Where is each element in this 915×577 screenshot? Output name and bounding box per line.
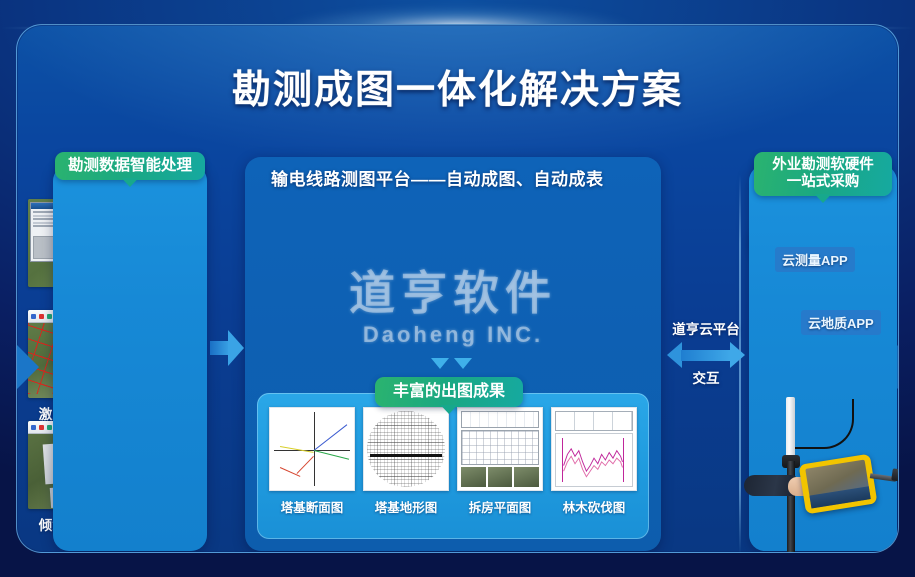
felling-curve <box>556 434 632 486</box>
result-item[interactable]: 塔基断面图 <box>269 407 355 516</box>
connector-bottom-label: 交互 <box>667 370 745 389</box>
tablet-mount-end <box>891 468 899 481</box>
result-item-label: 拆房平面图 <box>457 497 543 516</box>
results-badge-label: 丰富的出图成果 <box>393 383 505 402</box>
axis-chart <box>274 412 350 486</box>
photo-strip <box>461 467 539 487</box>
down-arrows-icon <box>431 358 472 369</box>
result-item[interactable]: 林木砍伐图 <box>551 407 637 516</box>
result-item[interactable]: 塔基地形图 <box>363 407 449 516</box>
pole-upper <box>786 397 795 461</box>
topography-contours <box>367 411 445 487</box>
right-panel-badge-line2: 一站式采购 <box>772 174 874 191</box>
app-tag-survey[interactable]: 云测量APP <box>775 247 855 272</box>
left-panel-badge: 勘测数据智能处理 <box>55 152 205 180</box>
tablet-screen <box>805 460 871 509</box>
results-badge: 丰富的出图成果 <box>375 377 523 407</box>
tower-topography-map[interactable] <box>363 407 449 491</box>
app-tag-geology[interactable]: 云地质APP <box>801 310 881 335</box>
connector-top-label: 道亨云平台 <box>667 321 745 340</box>
main-panel: 勘测成图一体化解决方案 勘测数据智能处理 航空影像 <box>16 24 899 553</box>
plan-table <box>461 411 539 487</box>
result-item-label: 林木砍伐图 <box>551 497 637 516</box>
left-chevron-icon <box>17 345 39 389</box>
right-panel-badge: 外业勘测软硬件 一站式采购 <box>754 152 892 196</box>
cloud-platform-connector: 道亨云平台 交互 <box>667 321 745 389</box>
results-container: 塔基断面图 塔基地形图 拆房平面图 <box>257 393 649 539</box>
tower-section-chart[interactable] <box>269 407 355 491</box>
table-header <box>461 411 539 428</box>
tree-felling-chart[interactable] <box>551 407 637 491</box>
result-item-label: 塔基地形图 <box>363 497 449 516</box>
left-panel-badge-label: 勘测数据智能处理 <box>68 157 192 175</box>
result-item[interactable]: 拆房平面图 <box>457 407 543 516</box>
center-panel-header: 输电线路测图平台——自动成图、自动成表 <box>245 157 661 197</box>
demolition-plan-drawing[interactable] <box>457 407 543 491</box>
page-title: 勘测成图一体化解决方案 <box>17 59 898 115</box>
left-column <box>53 165 207 551</box>
double-arrow-icon <box>667 342 745 368</box>
drawing-title-block <box>555 411 633 431</box>
felling-profile <box>555 411 633 487</box>
table-body <box>461 430 539 465</box>
drawing-body <box>555 433 633 487</box>
flow-arrow-right-icon <box>210 330 244 366</box>
result-item-label: 塔基断面图 <box>269 497 355 516</box>
right-panel-badge-line1: 外业勘测软硬件 <box>772 157 874 174</box>
poster-stage: 勘测成图一体化解决方案 勘测数据智能处理 航空影像 <box>0 0 915 577</box>
